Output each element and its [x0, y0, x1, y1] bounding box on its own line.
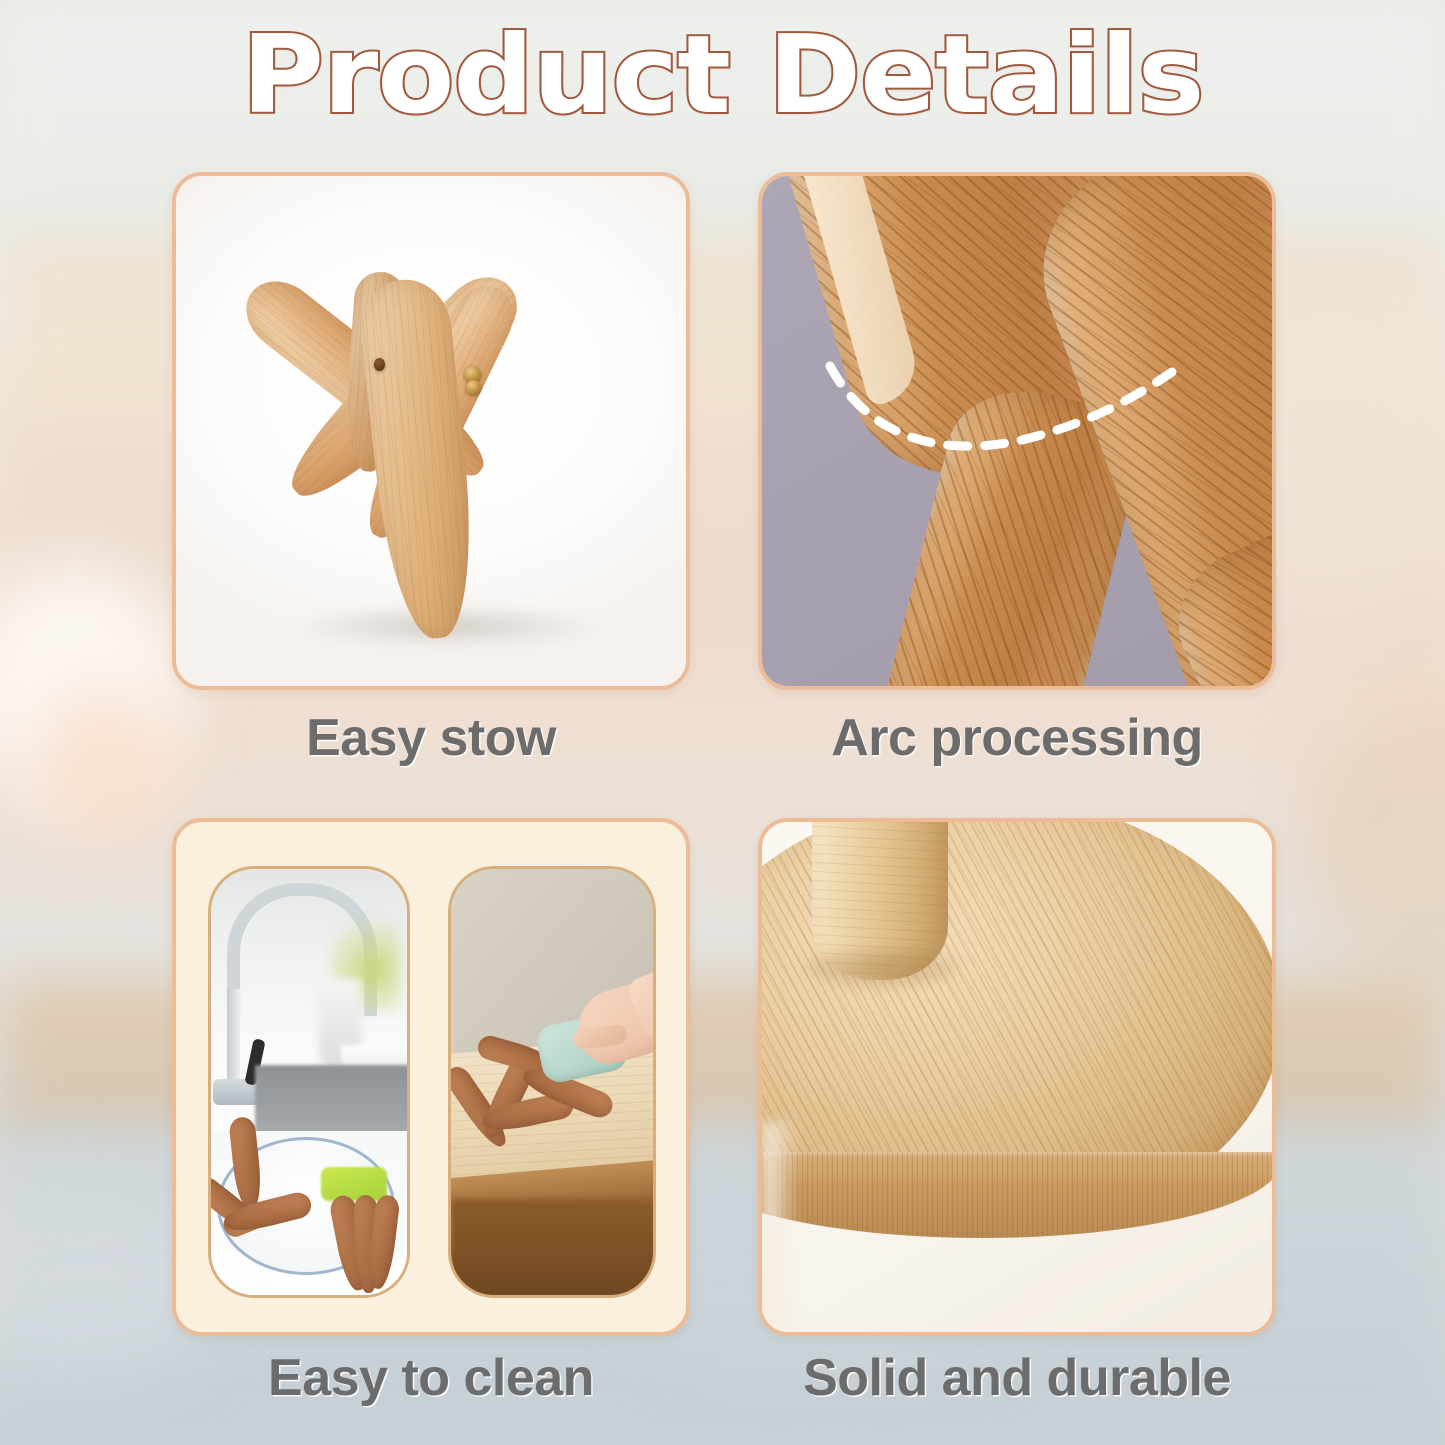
faucet-neck — [227, 989, 240, 1085]
arc-dashed-annotation — [762, 176, 1272, 686]
easy-stow-photo — [176, 176, 686, 686]
page-title: Product Details — [0, 22, 1445, 130]
sponge — [321, 1167, 387, 1201]
panel-arc-processing[interactable] — [758, 172, 1276, 690]
panel-easy-to-clean[interactable] — [172, 818, 690, 1336]
left-blur-edge — [762, 1122, 798, 1332]
caption-arc-processing: Arc processing — [758, 708, 1276, 768]
post-shadow — [806, 948, 958, 988]
panel-easy-stow[interactable] — [172, 172, 690, 690]
trivet-hinge-pin — [466, 380, 481, 395]
wood-base-rim — [758, 1152, 1276, 1238]
solid-durable-photo — [762, 822, 1272, 1332]
trivet-hinge-pin — [374, 358, 385, 371]
panel-solid-and-durable[interactable] — [758, 818, 1276, 1336]
sub-image-wiping-on-table — [448, 866, 656, 1298]
sub-image-rinsing-in-sink — [208, 866, 410, 1298]
caption-solid-and-durable: Solid and durable — [758, 1348, 1276, 1408]
product-details-page: Product Details Easy stow — [0, 0, 1445, 1445]
floor-blur — [451, 1199, 656, 1298]
caption-easy-to-clean: Easy to clean — [172, 1348, 690, 1408]
caption-easy-stow: Easy stow — [172, 708, 690, 768]
arc-processing-photo — [762, 176, 1272, 686]
